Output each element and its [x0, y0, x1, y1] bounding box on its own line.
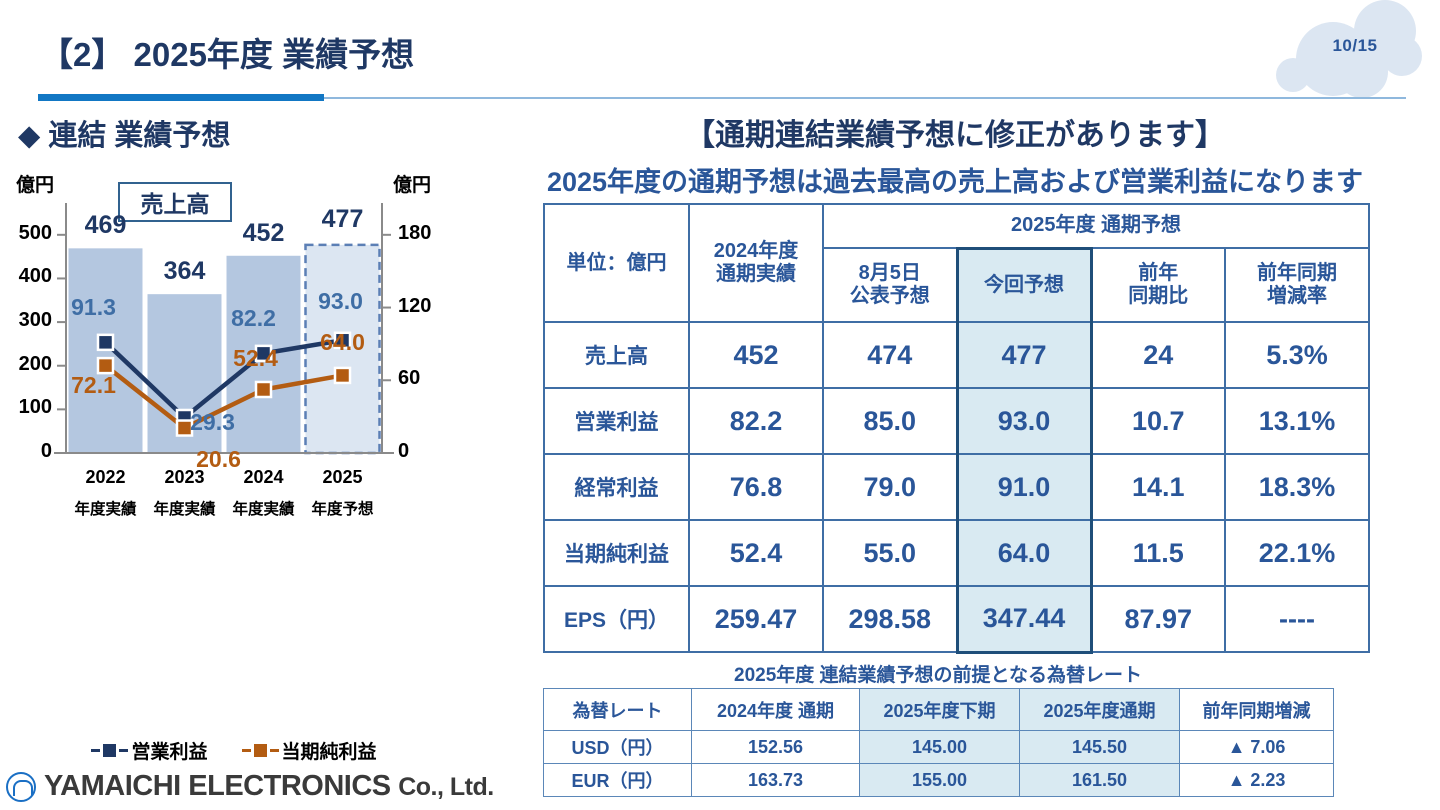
legend-dash-icon [242, 749, 251, 753]
fx-col-header: 前年同期増減 [1180, 689, 1334, 731]
legend-dash-icon [91, 749, 100, 753]
row-label: EPS（円） [544, 586, 689, 652]
operating-profit-value-label: 91.3 [44, 294, 144, 321]
fx-table-row: EUR（円）163.73155.00161.50▲ 2.23 [544, 764, 1334, 797]
page-number-blob-decoration: 10/15 [1270, 0, 1440, 100]
cell-yoy-diff: 10.7 [1091, 388, 1225, 454]
fx-table-row: USD（円）152.56145.00145.50▲ 7.06 [544, 731, 1334, 764]
fx-col-header: 2025年度通期 [1020, 689, 1180, 731]
cell-yoy-pct: 5.3% [1225, 322, 1369, 388]
fx-cell-delta: ▲ 7.06 [1180, 731, 1334, 764]
table-row: 売上高452474477245.3% [544, 322, 1369, 388]
chart-marker [98, 335, 113, 350]
cell-prev-forecast: 474 [823, 322, 957, 388]
headline-primary: 【通期連結業績予想に修正があります】 [470, 110, 1440, 154]
x-axis-tick-sub: 年度実績 [61, 497, 151, 519]
y-axis-tick-right: 120 [398, 295, 458, 318]
slide-title: 【2】 2025年度 業績予想 [40, 28, 414, 76]
bar-value-label: 477 [288, 205, 398, 234]
fx-row-label: USD（円） [544, 731, 692, 764]
cell-yoy-diff: 14.1 [1091, 454, 1225, 520]
col-header-yoy-diff: 前年 同期比 [1091, 248, 1225, 322]
logo-company-suffix: Co., Ltd. [398, 773, 493, 801]
cell-fy2024-actual: 82.2 [689, 388, 823, 454]
fx-cell-fy2025full: 161.50 [1020, 764, 1180, 797]
cell-fy2024-actual: 259.47 [689, 586, 823, 652]
x-axis-tick-year: 2023 [140, 467, 230, 488]
operating-profit-value-label: 93.0 [291, 288, 391, 315]
y-axis-tick-right: 60 [398, 367, 458, 390]
cell-new-forecast: 64.0 [957, 520, 1091, 586]
legend-square-icon [103, 744, 116, 757]
fx-cell-fy2024: 163.73 [692, 764, 860, 797]
col-header-new-forecast: 今回予想 [957, 248, 1091, 322]
legend-square-icon [254, 744, 267, 757]
cell-prev-forecast: 79.0 [823, 454, 957, 520]
cell-yoy-pct: 13.1% [1225, 388, 1369, 454]
fx-table-body: USD（円）152.56145.00145.50▲ 7.06EUR（円）163.… [544, 731, 1334, 797]
col-header-yoy-pct: 前年同期 増減率 [1225, 248, 1369, 322]
fx-rate-table: 為替レート2024年度 通期2025年度下期2025年度通期前年同期増減 USD… [543, 688, 1334, 797]
forecast-table: 単位：億円 2024年度 通期実績 2025年度 通期予想 8月5日 公表予想 … [543, 203, 1370, 654]
cell-new-forecast: 347.44 [957, 586, 1091, 652]
cell-yoy-diff: 87.97 [1091, 586, 1225, 652]
legend-label: 当期純利益 [282, 737, 377, 764]
row-label: 営業利益 [544, 388, 689, 454]
cell-yoy-diff: 24 [1091, 322, 1225, 388]
cell-yoy-diff: 11.5 [1091, 520, 1225, 586]
bar-value-label: 364 [130, 257, 240, 286]
fx-cell-fy2024: 152.56 [692, 731, 860, 764]
net-profit-value-label: 72.1 [44, 372, 144, 399]
forecast-table-body: 売上高452474477245.3%営業利益82.285.093.010.713… [544, 322, 1369, 652]
chart-unit-right: 億円 [393, 170, 431, 197]
y-axis-tick-left: 500 [0, 222, 52, 245]
col-group-header-fy2025: 2025年度 通期予想 [823, 204, 1369, 248]
cell-yoy-pct: ---- [1225, 586, 1369, 652]
legend-item-operating-profit: 営業利益 [91, 737, 207, 764]
chart-marker [256, 382, 271, 397]
fx-cell-fy2025h2: 155.00 [860, 764, 1020, 797]
table-corner-label: 単位：億円 [544, 204, 689, 322]
row-label: 経常利益 [544, 454, 689, 520]
consolidated-forecast-chart: 010020030040050006012018046936445247791.… [0, 195, 470, 665]
legend-item-net-profit: 当期純利益 [242, 737, 377, 764]
x-axis-tick-year: 2025 [298, 467, 388, 488]
cell-fy2024-actual: 76.8 [689, 454, 823, 520]
table-row: 営業利益82.285.093.010.713.1% [544, 388, 1369, 454]
table-row: EPS（円）259.47298.58347.4487.97---- [544, 586, 1369, 652]
row-label: 当期純利益 [544, 520, 689, 586]
x-axis-tick-year: 2022 [61, 467, 151, 488]
legend-label: 営業利益 [131, 737, 207, 764]
legend-dash-icon [270, 749, 279, 753]
col-header-prev-forecast: 8月5日 公表予想 [823, 248, 957, 322]
header-divider-accent [38, 94, 324, 101]
y-axis-tick-left: 400 [0, 265, 52, 288]
cell-yoy-pct: 22.1% [1225, 520, 1369, 586]
x-axis-tick-sub: 年度実績 [140, 497, 230, 519]
fx-cell-fy2025h2: 145.00 [860, 731, 1020, 764]
chart-unit-left: 億円 [16, 170, 54, 197]
fx-col-header: 2024年度 通期 [692, 689, 860, 731]
fx-table-title: 2025年度 連結業績予想の前提となる為替レート [543, 660, 1333, 687]
fx-header-row: 為替レート2024年度 通期2025年度下期2025年度通期前年同期増減 [544, 689, 1334, 731]
yamaichi-mark-icon [6, 772, 36, 802]
col-header-fy2024-actual: 2024年度 通期実績 [689, 204, 823, 322]
slide-root: 10/15 【2】 2025年度 業績予想 ◆ 連結 業績予想 億円 億円 売上… [0, 0, 1440, 810]
fx-cell-fy2025full: 145.50 [1020, 731, 1180, 764]
fx-col-header: 2025年度下期 [860, 689, 1020, 731]
headline-secondary: 2025年度の通期予想は過去最高の売上高および営業利益になります [470, 160, 1440, 199]
net-profit-value-label: 64.0 [293, 329, 393, 356]
operating-profit-value-label: 82.2 [204, 305, 304, 332]
chart-marker [335, 368, 350, 383]
y-axis-tick-right: 180 [398, 222, 458, 245]
bar-value-label: 469 [51, 211, 161, 240]
y-axis-tick-right: 0 [398, 440, 458, 463]
net-profit-value-label: 52.4 [206, 345, 306, 372]
cell-new-forecast: 93.0 [957, 388, 1091, 454]
y-axis-tick-left: 100 [0, 396, 52, 419]
cell-fy2024-actual: 452 [689, 322, 823, 388]
logo-company-name: YAMAICHI ELECTRONICS [44, 770, 391, 802]
cell-new-forecast: 91.0 [957, 454, 1091, 520]
fx-cell-delta: ▲ 2.23 [1180, 764, 1334, 797]
cell-prev-forecast: 85.0 [823, 388, 957, 454]
company-logo: YAMAICHI ELECTRONICS Co., Ltd. [6, 770, 494, 803]
fx-col-header: 為替レート [544, 689, 692, 731]
cell-prev-forecast: 298.58 [823, 586, 957, 652]
cell-new-forecast: 477 [957, 322, 1091, 388]
table-row: 経常利益76.879.091.014.118.3% [544, 454, 1369, 520]
section-heading: ◆ 連結 業績予想 [18, 112, 230, 154]
cell-prev-forecast: 55.0 [823, 520, 957, 586]
page-number: 10/15 [1310, 36, 1400, 56]
cell-fy2024-actual: 52.4 [689, 520, 823, 586]
cell-yoy-pct: 18.3% [1225, 454, 1369, 520]
logo-wordmark: YAMAICHI ELECTRONICS Co., Ltd. [44, 770, 494, 803]
x-axis-tick-sub: 年度実績 [219, 497, 309, 519]
y-axis-tick-left: 0 [0, 440, 52, 463]
table-row: 当期純利益52.455.064.011.522.1% [544, 520, 1369, 586]
row-label: 売上高 [544, 322, 689, 388]
operating-profit-value-label: 29.3 [163, 409, 263, 436]
x-axis-tick-sub: 年度予想 [298, 497, 388, 519]
chart-legend: 営業利益 当期純利益 [44, 737, 424, 764]
legend-dash-icon [119, 749, 128, 753]
fx-row-label: EUR（円） [544, 764, 692, 797]
x-axis-tick-year: 2024 [219, 467, 309, 488]
